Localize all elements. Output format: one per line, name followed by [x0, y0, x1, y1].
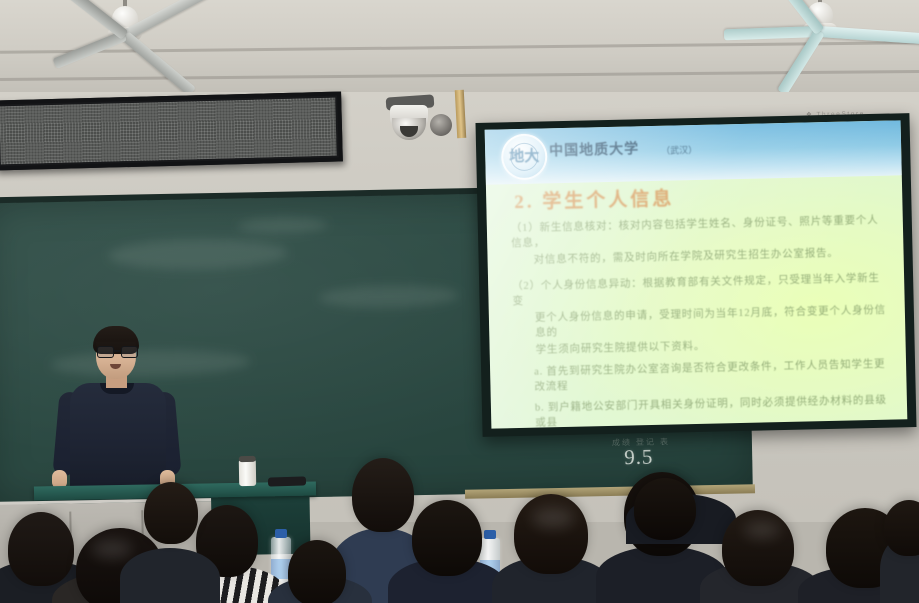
presenter-torso	[70, 383, 166, 495]
projection-screen-frame: 地大 中国地质大学 （武汉） 2. 学生个人信息 （1）新生信息核对：核对内容包…	[475, 113, 916, 437]
glasses-lens-right	[121, 346, 138, 358]
dome-camera	[382, 92, 442, 144]
led-matrix-sign	[0, 91, 343, 170]
slide-header-band: 地大 中国地质大学 （武汉）	[485, 120, 902, 184]
camera-dome-icon	[392, 118, 426, 140]
ceiling-fan-left	[95, 0, 155, 46]
ceiling-fan-right	[790, 0, 850, 42]
wall-speaker	[430, 114, 452, 136]
fan-blade	[724, 26, 820, 40]
audience-head	[634, 478, 696, 540]
blackboard-chalk-text: 9.5	[624, 445, 654, 471]
cup	[239, 460, 256, 486]
projection-screen: 地大 中国地质大学 （武汉） 2. 学生个人信息 （1）新生信息核对：核对内容包…	[485, 120, 908, 428]
audience-head	[352, 458, 414, 532]
bottle-cap	[275, 529, 287, 538]
slide-body: （1）新生信息核对：核对内容包括学生姓名、身份证号、照片等重要个人信息， 对信息…	[511, 213, 891, 429]
university-name: 中国地质大学	[549, 138, 639, 160]
audience-shoulders	[120, 548, 220, 603]
classroom-photo-scene: 成绩 登记 表 9.5 ❖ThreeStore 地大 中国地质大学 （武汉） 2…	[0, 0, 919, 603]
led-matrix-panel	[0, 98, 337, 165]
audience-head	[412, 500, 482, 576]
glasses-icon	[97, 346, 136, 356]
glasses-lens-left	[97, 346, 114, 358]
glasses-bridge	[113, 350, 120, 352]
slide-title: 2. 学生个人信息	[514, 183, 675, 214]
university-seal-icon: 地大	[501, 133, 548, 180]
audience-head	[144, 482, 198, 544]
seal-mark-text: 地大	[503, 144, 545, 166]
audience-head	[514, 494, 588, 574]
bottle-cap	[484, 530, 496, 539]
university-campus: （武汉）	[661, 143, 697, 157]
ceiling-seam	[0, 70, 919, 81]
audience-head	[288, 540, 346, 603]
audience-head	[8, 512, 74, 586]
remote-control	[268, 476, 306, 486]
